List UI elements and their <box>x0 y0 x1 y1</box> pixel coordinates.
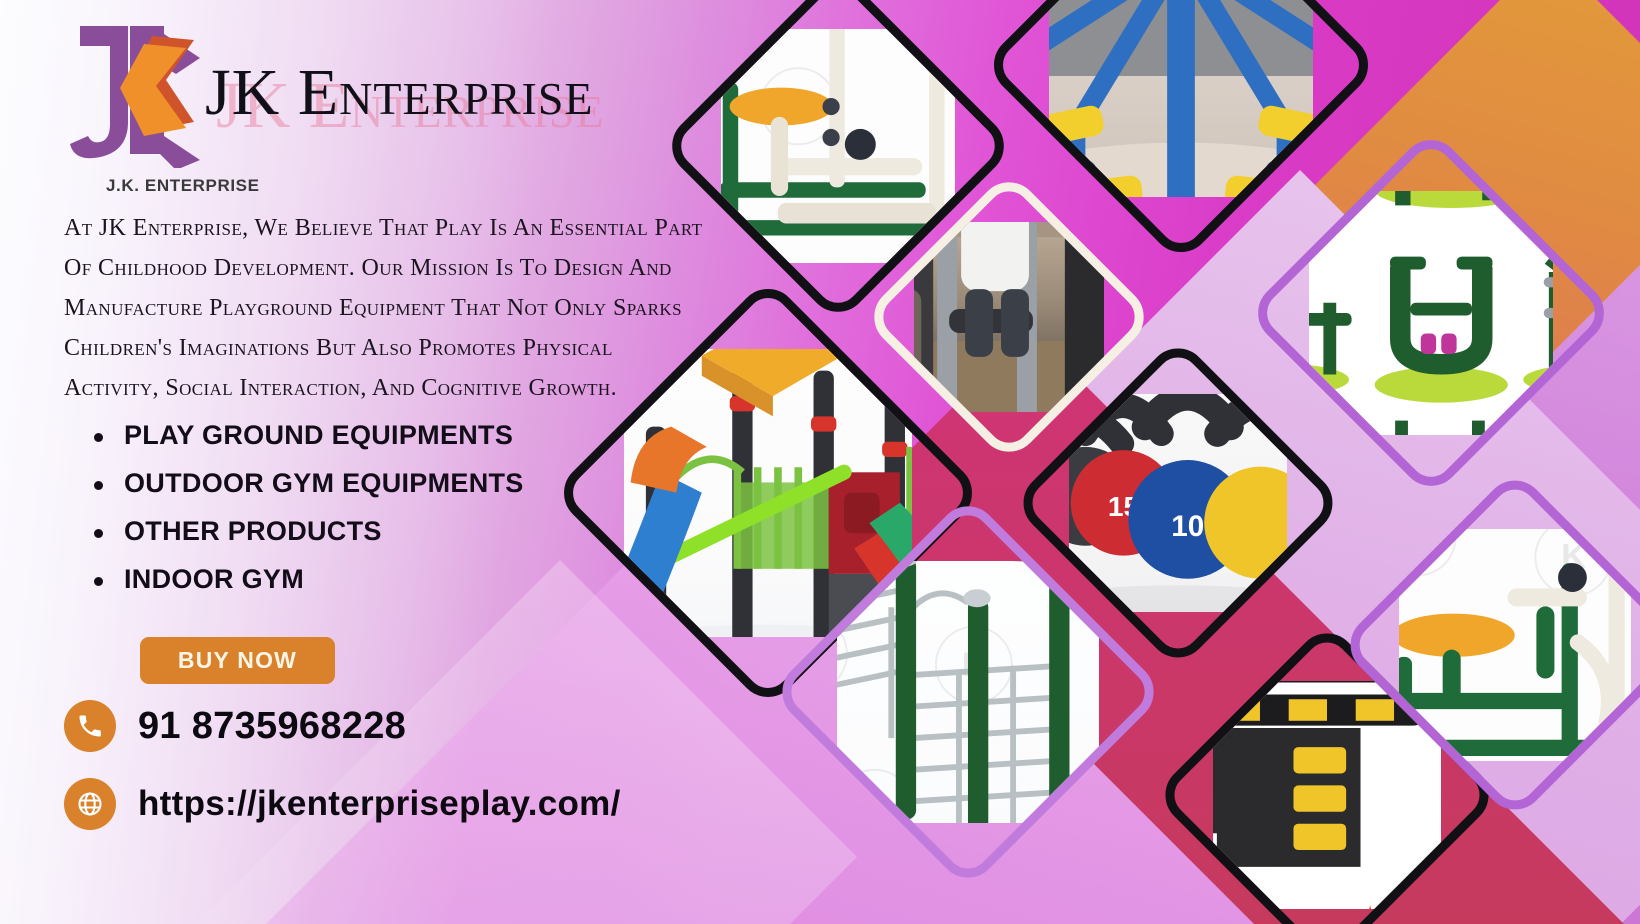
product-list-item[interactable]: OTHER PRODUCTS <box>86 516 524 547</box>
globe-icon <box>64 778 116 830</box>
tile-image-outdoor-gym-catalog <box>1309 191 1553 435</box>
scene-monkey-bars: K K K K <box>837 561 1099 823</box>
kettlebell-illustration: 15 10 <box>1069 394 1287 612</box>
scene-road-safety-products <box>1213 681 1441 909</box>
buy-now-button[interactable]: BUY NOW <box>140 637 335 684</box>
gym-rider-illustration <box>1399 529 1631 761</box>
tile-image-kettlebells: 15 10 <box>1069 394 1287 612</box>
scene-indoor-gym <box>914 222 1104 412</box>
product-list-item[interactable]: OUTDOOR GYM EQUIPMENTS <box>86 468 524 499</box>
tile-image-monkey-bars: K K K K <box>837 561 1099 823</box>
product-list-item[interactable]: INDOOR GYM <box>86 564 524 595</box>
outdoor-gym-catalog-illustration <box>1309 191 1553 435</box>
phone-icon <box>64 700 116 752</box>
website-url: https://jkenterpriseplay.com/ <box>138 784 621 824</box>
tile-image-outdoor-gym-rider: K K <box>1399 529 1631 761</box>
content-column: J.K. ENTERPRISE JK Enterprise At JK Ente… <box>0 0 720 924</box>
tile-image-road-safety-products <box>1213 681 1441 909</box>
brand-lockup: J.K. ENTERPRISE <box>68 18 203 193</box>
equipment-illustration <box>721 29 955 263</box>
road-safety-illustration <box>1213 681 1441 909</box>
gym-machines-illustration <box>914 222 1104 412</box>
monkey-bars-illustration <box>837 561 1099 823</box>
about-paragraph: At JK Enterprise, We Believe That Play I… <box>64 208 704 408</box>
contact-website-row[interactable]: https://jkenterpriseplay.com/ <box>64 778 621 830</box>
kettlebell-weight-label: 10 <box>1171 510 1204 543</box>
tile-image-outdoor-gym-cycle: K K K <box>721 29 955 263</box>
scene-merry-go-round <box>1049 0 1313 197</box>
logo-caption: J.K. ENTERPRISE <box>106 176 260 196</box>
phone-number: 91 8735968228 <box>138 705 406 748</box>
scene-outdoor-gym-cycle: K K K <box>721 29 955 263</box>
jk-logo-graphic <box>68 18 203 168</box>
merry-go-round-illustration <box>1049 0 1313 197</box>
tile-image-merry-go-round <box>1049 0 1313 197</box>
scene-kettlebells: 15 10 <box>1069 394 1287 612</box>
product-category-list: PLAY GROUND EQUIPMENTS OUTDOOR GYM EQUIP… <box>86 420 524 612</box>
product-list-item[interactable]: PLAY GROUND EQUIPMENTS <box>86 420 524 451</box>
jk-logo-icon: J.K. ENTERPRISE <box>68 18 203 193</box>
tile-image-indoor-gym <box>914 222 1104 412</box>
promo-banner: K K K <box>0 0 1640 924</box>
scene-outdoor-gym-catalog <box>1309 191 1553 435</box>
contact-phone-row[interactable]: 91 8735968228 <box>64 700 406 752</box>
company-title: JK Enterprise <box>205 55 594 131</box>
scene-outdoor-gym-rider: K K <box>1399 529 1631 761</box>
